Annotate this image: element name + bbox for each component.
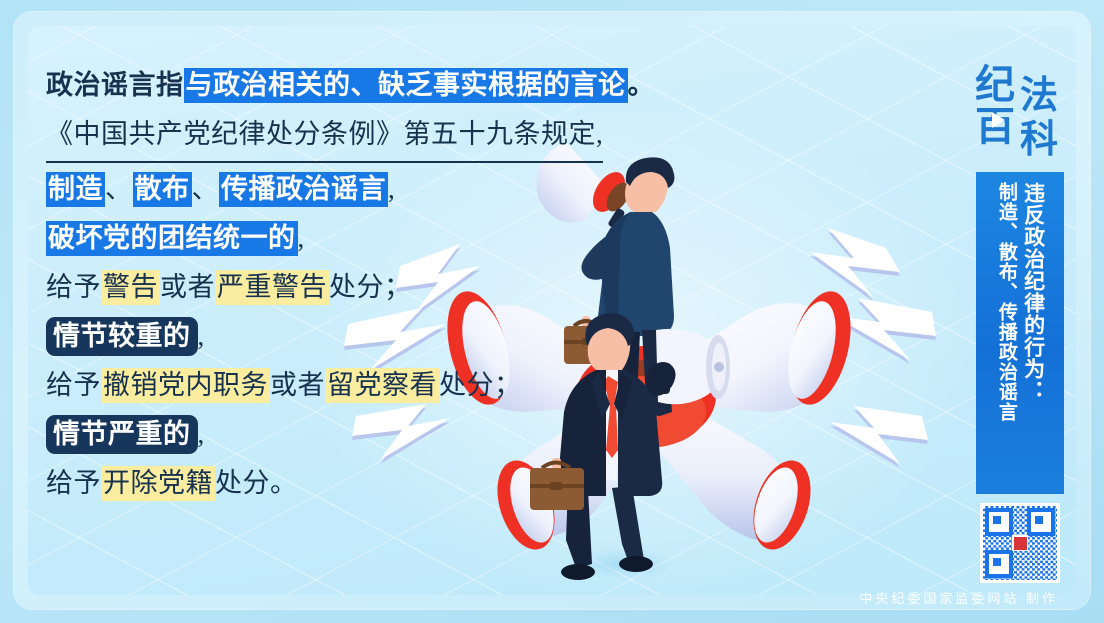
qr-code[interactable] [980,503,1060,583]
line3-highlight-2: 散布 [133,172,192,207]
line7-highlight-2: 留党察看 [325,368,439,403]
line6-pill: 情节较重的 [46,317,198,356]
text-line-2: 《中国共产党纪律处分条例》第五十九条规定, [46,111,666,163]
qr-finder-top-left [985,508,1013,536]
line7-highlight-1: 撤销党内职务 [101,368,270,403]
poster-root: 政治谣言指与政治相关的、缺乏事实根据的言论。 《中国共产党纪律处分条例》第五十九… [0,0,1104,623]
logo-char-ke: 科 [1020,108,1058,163]
vertical-banner: 违反政治纪律的行为： 制造、散布、传播政治谣言 [976,172,1064,494]
text-line-4: 破坏党的团结统一的, [46,215,666,261]
qr-center-logo [1012,535,1028,551]
line2-regulation-title: 《中国共产党纪律处分条例》 [46,119,404,149]
qr-finder-top-right [1027,508,1055,536]
brand-rail: 纪 法 百 科 [972,50,1064,166]
text-line-9: 给予开除党籍处分。 [46,460,666,506]
line2-underlined: 《中国共产党纪律处分条例》第五十九条规定, [46,111,603,163]
play-triangle-icon [992,112,1005,128]
text-line-1: 政治谣言指与政治相关的、缺乏事实根据的言论。 [46,62,666,108]
line8-pill: 情节严重的 [46,415,198,454]
line3-sep-1: 、 [105,174,133,204]
text-line-5: 给予警告或者严重警告处分； [46,264,666,310]
line3-highlight-1: 制造 [46,172,105,207]
vertical-banner-line-2: 制造、散布、传播政治谣言 [994,182,1016,494]
line5-p2: 或者 [160,272,215,302]
qr-finder-bottom-left [985,550,1013,578]
line7-p2: 或者 [270,370,325,400]
line7-p3: 处分； [439,370,522,400]
text-line-3: 制造、散布、传播政治谣言, [46,166,666,212]
body-text-column: 政治谣言指与政治相关的、缺乏事实根据的言论。 《中国共产党纪律处分条例》第五十九… [46,62,666,509]
line5-p3: 处分； [329,272,412,302]
line1-highlight: 与政治相关的、缺乏事实根据的言论 [184,68,628,103]
line4-tail: , [298,223,305,253]
line5-highlight-1: 警告 [101,270,160,305]
line3-sep-2: 、 [192,174,220,204]
line5-highlight-2: 严重警告 [215,270,329,305]
qr-code-pattern [983,506,1057,580]
line9-p1: 给予 [46,468,101,498]
line1-lead: 政治谣言指 [46,70,184,100]
line3-highlight-3: 传播政治谣言 [219,172,388,207]
line4-highlight: 破坏党的团结统一的 [46,221,298,256]
line8-tail: , [198,419,205,449]
line9-highlight: 开除党籍 [101,466,215,501]
vertical-banner-line-1: 违反政治纪律的行为： [1021,182,1046,494]
line1-tail: 。 [628,70,656,100]
line9-p2: 处分。 [215,468,298,498]
line5-p1: 给予 [46,272,101,302]
line7-p1: 给予 [46,370,101,400]
text-line-7: 给予撤销党内职务或者留党察看处分； [46,362,666,408]
line2-article: 第五十九条 [404,119,542,149]
credit-text: 中央纪委国家监委网站 制作 [859,588,1058,607]
jifa-baike-logo[interactable]: 纪 法 百 科 [973,50,1063,158]
text-line-8: 情节严重的, [46,411,666,457]
line6-tail: , [198,321,205,351]
line3-tail: , [388,174,395,204]
line2-tail: 规定, [541,119,603,149]
text-line-6: 情节较重的, [46,313,666,359]
